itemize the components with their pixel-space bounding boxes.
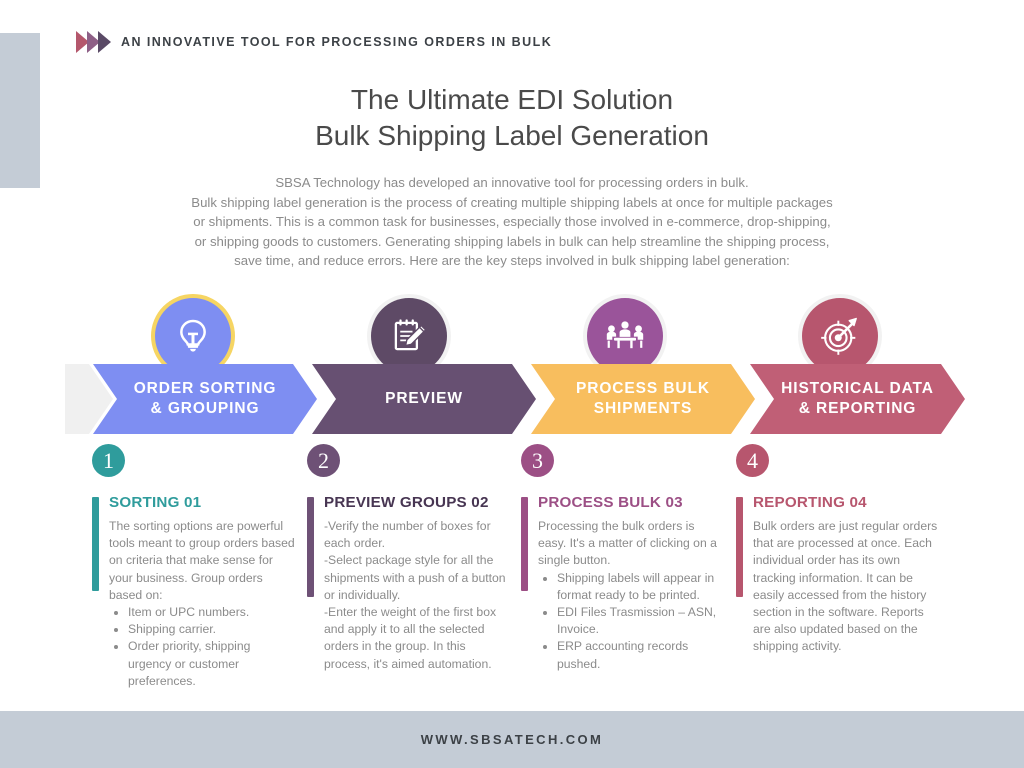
banner-segment-historical-data[interactable]: HISTORICAL DATA & REPORTING [750, 364, 965, 434]
banner-segment-4-line1: HISTORICAL DATA [781, 380, 934, 397]
step-number-badge-3: 3 [521, 444, 554, 477]
banner-segment-3-line2: SHIPMENTS [594, 400, 693, 417]
lightbulb-icon [155, 298, 231, 374]
page-title-line1: The Ultimate EDI Solution [0, 82, 1024, 118]
banner-segment-1-line2: & GROUPING [151, 400, 260, 417]
meeting-people-icon [587, 298, 663, 374]
list-item: Shipping labels will appear in format re… [557, 570, 726, 604]
process-banner: ORDER SORTING & GROUPING PREVIEW PROCESS… [65, 364, 965, 434]
step-text-1: The sorting options are powerful tools m… [109, 518, 297, 690]
step-heading-1: SORTING 01 [109, 493, 297, 512]
banner-segment-4-line2: & REPORTING [799, 400, 917, 417]
step-number-badge-1: 1 [92, 444, 125, 477]
step-accent-bar-1 [92, 497, 99, 591]
infographic-page: AN INNOVATIVE TOOL FOR PROCESSING ORDERS… [0, 0, 1024, 768]
header-eyebrow-text: AN INNOVATIVE TOOL FOR PROCESSING ORDERS… [121, 35, 552, 49]
banner-segment-process-bulk[interactable]: PROCESS BULK SHIPMENTS [531, 364, 755, 434]
step-paragraph-1: The sorting options are powerful tools m… [109, 518, 297, 604]
step-heading-3: PROCESS BULK 03 [538, 493, 726, 512]
intro-line-4: or shipping goods to customers. Generati… [140, 232, 884, 252]
notepad-pencil-icon [371, 298, 447, 374]
step-number-badge-2: 2 [307, 444, 340, 477]
step-heading-2: PREVIEW GROUPS 02 [324, 493, 512, 512]
header: AN INNOVATIVE TOOL FOR PROCESSING ORDERS… [76, 31, 552, 53]
banner-segment-3-line1: PROCESS BULK [576, 380, 710, 397]
list-item: EDI Files Trasmission – ASN, Invoice. [557, 604, 726, 638]
list-item: ERP accounting records pushed. [557, 638, 726, 672]
banner-segment-order-sorting[interactable]: ORDER SORTING & GROUPING [93, 364, 317, 434]
step-accent-bar-3 [521, 497, 528, 591]
step-heading-4: REPORTING 04 [753, 493, 941, 512]
list-item: Item or UPC numbers. [128, 604, 297, 621]
banner-segment-1-line1: ORDER SORTING [134, 380, 277, 397]
step-column-3: 3 PROCESS BULK 03 Processing the bulk or… [521, 444, 726, 673]
step-text-2: -Verify the number of boxes for each ord… [324, 518, 512, 673]
list-item: Shipping carrier. [128, 621, 297, 638]
footer-website: WWW.SBSATECH.COM [421, 732, 604, 747]
target-arrow-icon [802, 298, 878, 374]
intro-line-5: save time, and reduce errors. Here are t… [140, 251, 884, 271]
step-bullets-3: Shipping labels will appear in format re… [538, 570, 726, 673]
step-bullets-1: Item or UPC numbers. Shipping carrier. O… [109, 604, 297, 690]
step-column-2: 2 PREVIEW GROUPS 02 -Verify the number o… [307, 444, 512, 673]
step-column-4: 4 REPORTING 04 Bulk orders are just regu… [736, 444, 941, 656]
banner-segment-2-line1: PREVIEW [385, 390, 463, 407]
page-title-line2: Bulk Shipping Label Generation [0, 118, 1024, 154]
intro-line-3: or shipments. This is a common task for … [140, 212, 884, 232]
step-accent-bar-4 [736, 497, 743, 597]
triple-chevron-icon [76, 31, 109, 53]
step-paragraph-4: Bulk orders are just regular orders that… [753, 518, 941, 656]
banner-segment-preview[interactable]: PREVIEW [312, 364, 536, 434]
step-paragraph-3: Processing the bulk orders is easy. It's… [538, 518, 726, 570]
page-title: The Ultimate EDI Solution Bulk Shipping … [0, 82, 1024, 154]
intro-paragraph: SBSA Technology has developed an innovat… [140, 173, 884, 271]
step-text-4: Bulk orders are just regular orders that… [753, 518, 941, 656]
step-paragraph-2: -Verify the number of boxes for each ord… [324, 518, 512, 673]
step-column-1: 1 SORTING 01 The sorting options are pow… [92, 444, 297, 690]
intro-line-1: SBSA Technology has developed an innovat… [140, 173, 884, 193]
list-item: Order priority, shipping urgency or cust… [128, 638, 297, 690]
footer: WWW.SBSATECH.COM [0, 711, 1024, 768]
step-accent-bar-2 [307, 497, 314, 597]
step-columns: 1 SORTING 01 The sorting options are pow… [0, 444, 1024, 694]
intro-line-2: Bulk shipping label generation is the pr… [140, 193, 884, 213]
step-number-badge-4: 4 [736, 444, 769, 477]
step-text-3: Processing the bulk orders is easy. It's… [538, 518, 726, 673]
